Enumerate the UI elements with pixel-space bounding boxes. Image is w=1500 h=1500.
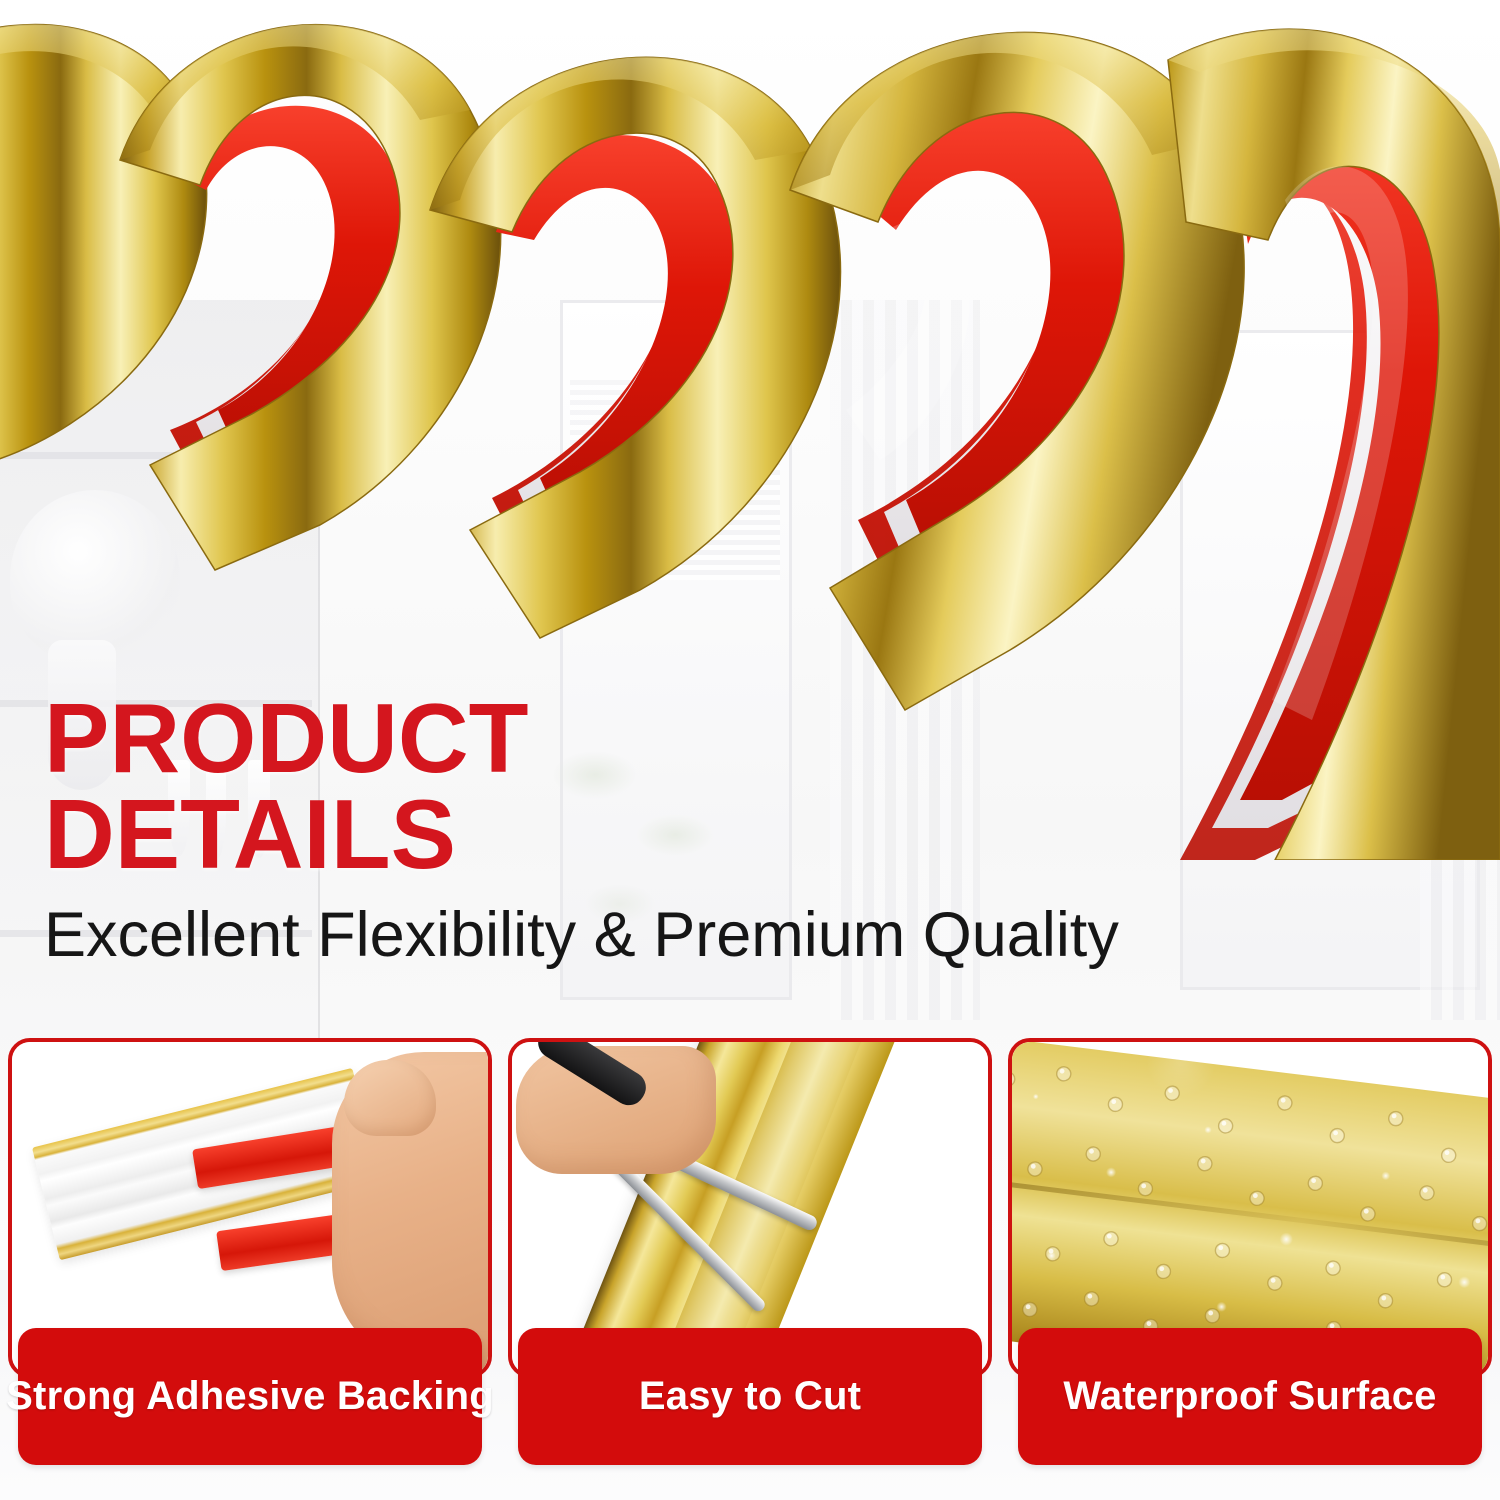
feature-card-image (8, 1038, 492, 1378)
thumb-icon (344, 1060, 436, 1136)
feature-waterproof-surface[interactable]: Waterproof Surface (1008, 1038, 1492, 1468)
page-title: PRODUCT DETAILS (44, 690, 1224, 882)
feature-card-image (508, 1038, 992, 1378)
illustration-scissors-cutting-tape (512, 1042, 988, 1374)
feature-caption-bar: Waterproof Surface (1018, 1328, 1482, 1465)
tape-coil-3 (430, 57, 841, 638)
feature-caption-bar: Easy to Cut (518, 1328, 982, 1465)
headline-block: PRODUCT DETAILS Excellent Flexibility & … (44, 690, 1224, 967)
illustration-hand-peeling-adhesive-liner (12, 1042, 488, 1374)
product-detail-image: PRODUCT DETAILS Excellent Flexibility & … (0, 0, 1500, 1500)
feature-caption-label: Strong Adhesive Backing (6, 1374, 494, 1419)
feature-easy-to-cut[interactable]: Easy to Cut (508, 1038, 992, 1468)
feature-caption-label: Waterproof Surface (1063, 1374, 1436, 1419)
page-subtitle: Excellent Flexibility & Premium Quality (44, 904, 1224, 967)
feature-caption-label: Easy to Cut (639, 1374, 861, 1419)
feature-strong-adhesive-backing[interactable]: Strong Adhesive Backing (8, 1038, 492, 1468)
feature-caption-bar: Strong Adhesive Backing (18, 1328, 482, 1465)
illustration-water-droplets-on-gold (1012, 1042, 1488, 1374)
feature-panel-row: Strong Adhesive Backing Easy to Cut (0, 1038, 1500, 1468)
water-droplets-icon (1012, 1042, 1488, 1374)
feature-card-image (1008, 1038, 1492, 1378)
